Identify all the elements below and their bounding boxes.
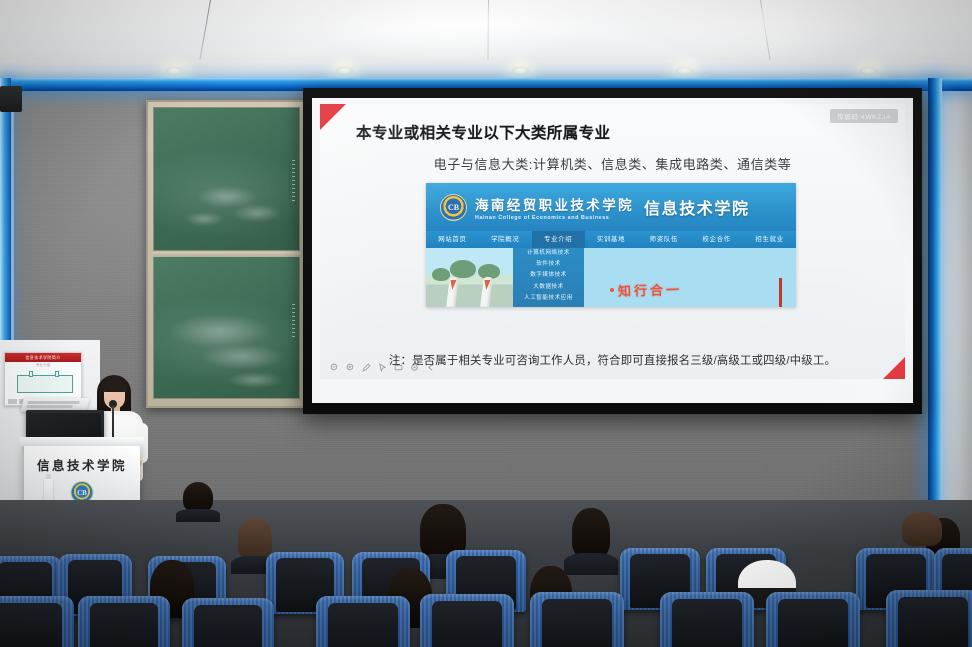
department-name: 信息技术学院 [644,195,750,219]
auditorium-seat [886,590,972,647]
led-strip-left [0,78,11,378]
slide-subtitle: 电子与信息大类:计算机类、信息类、集成电路类、通信类等 [320,154,905,173]
dropdown-item-network[interactable]: 计算机网络技术 [513,248,584,259]
auditorium-seat [660,592,754,647]
led-strip-right [928,78,942,508]
ceiling [0,0,972,66]
chalkboard-panel-bottom [153,255,300,399]
majors-dropdown-menu[interactable]: 计算机网络技术 软件技术 数字媒体技术 大数据技术 人工智能技术应用 [513,248,584,307]
auditorium-seat [420,594,514,647]
campus-photo [426,248,522,307]
website-nav: 网站首页 学院概况 专业介绍 实训基地 师资队伍 校企合作 招生就业 [426,231,796,248]
nav-item-training-base[interactable]: 实训基地 [585,231,638,248]
audience-person [572,508,610,558]
poster-diagram [11,371,75,399]
ceiling-downlight [166,67,183,75]
share-code-badge: 传屏码 4WKZJA [830,109,898,123]
audience-person [183,482,213,512]
auditorium-seat [182,598,274,647]
projection-screen: 传屏码 4WKZJA 本专业或相关专业以下大类所属专业 电子与信息大类:计算机类… [303,88,922,414]
slide-corner-accent-topleft [320,104,346,130]
slide-title: 本专业或相关专业以下大类所属专业 [356,121,610,143]
settings-icon[interactable] [410,363,419,372]
nav-item-cooperation[interactable]: 校企合作 [690,231,743,248]
nav-item-home[interactable]: 网站首页 [426,231,479,248]
zoom-in-icon[interactable] [346,363,355,372]
ceiling-downlight [860,67,877,75]
website-slogan: 知行合一 [618,279,682,300]
pen-icon[interactable] [362,363,371,372]
chalkboard [146,100,307,408]
auditorium-seat [78,596,170,647]
embedded-website-screenshot: 海南经贸职业技术学院 Hainan College of Economics a… [426,183,796,307]
dropdown-item-big-data[interactable]: 大数据技术 [513,282,584,293]
nav-item-admissions[interactable]: 招生就业 [743,231,796,248]
auditorium-seat [530,592,624,647]
website-body: 计算机网络技术 软件技术 数字媒体技术 大数据技术 人工智能技术应用 知行合一 [426,248,796,307]
ceiling-downlight [676,67,693,75]
podium-label: 信息技术学院 [24,455,140,474]
cursor-icon[interactable] [378,363,387,372]
website-header: 海南经贸职业技术学院 Hainan College of Economics a… [426,183,796,231]
poster-subtitle: 专业介绍 [5,363,81,368]
auditorium-seat [0,596,74,647]
poster-header-text: 信息技术学院简介 [5,353,81,362]
college-logo-icon [440,194,467,221]
rectangle-icon[interactable] [394,363,403,372]
dropdown-item-digital-media[interactable]: 数字媒体技术 [513,270,584,281]
auditorium-seat [316,596,410,647]
college-name-cn: 海南经贸职业技术学院 [475,194,634,214]
share-icon[interactable] [426,363,435,372]
dropdown-item-software[interactable]: 软件技术 [513,259,584,270]
wall-speaker [0,86,22,112]
presentation-slide: 传屏码 4WKZJA 本专业或相关专业以下大类所属专业 电子与信息大类:计算机类… [320,104,905,379]
chalkboard-panel-top [153,107,300,251]
dropdown-item-ai[interactable]: 人工智能技术应用 [513,293,584,304]
audience-person [238,518,272,560]
auditorium-seat [766,592,860,647]
college-name-en: Hainan College of Economics and Business [475,215,634,221]
lecture-hall-scene: 信息技术学院简介 专业介绍 [0,0,972,647]
slide-toolbar[interactable] [330,359,435,375]
right-wall-panel [942,78,972,548]
nav-item-faculty[interactable]: 师资队伍 [637,231,690,248]
nav-item-overview[interactable]: 学院概况 [479,231,532,248]
ceiling-downlight [336,67,353,75]
ceiling-downlight [512,67,529,75]
audience-person [902,512,942,546]
nav-item-majors[interactable]: 专业介绍 [532,231,585,248]
zoom-out-icon[interactable] [330,363,339,372]
